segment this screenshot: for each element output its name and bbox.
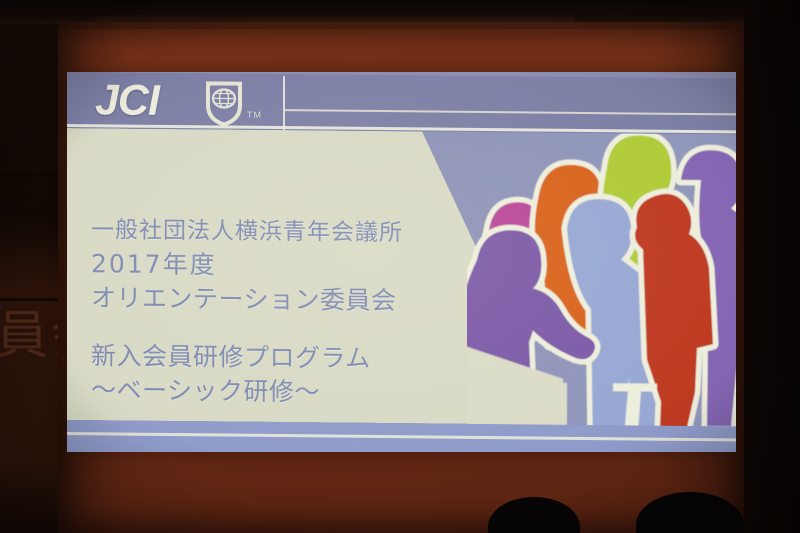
right-wall-panel (744, 0, 800, 533)
slide-subtitle-line-1: 新入会員研修プログラム (91, 336, 371, 375)
slide-title-line-3: オリエンテーション委員会 (91, 278, 397, 317)
wall-kanji-text: 員会 (0, 288, 62, 384)
slide-header-band: JCI TM (67, 72, 736, 134)
slide-title-line-1: 一般社団法人横浜青年会議所 (91, 210, 403, 247)
slide-title-line-2: 2017年度 (91, 244, 217, 281)
jci-shield-icon (206, 81, 242, 125)
left-wall-panel (0, 24, 62, 533)
jci-logo-text: JCI (95, 77, 159, 124)
header-vertical-rule (283, 76, 285, 130)
slide-subtitle-line-2: ～ベーシック研修～ (91, 370, 320, 408)
screen-top-edge (58, 22, 744, 29)
wall-seam-upper (0, 174, 62, 177)
projected-slide: JCI TM 一般社団法人横浜青年会議所 2017年度 オリエンテーション委員会… (67, 72, 736, 452)
trademark-mark: TM (247, 110, 262, 120)
photo-canvas: 員会 (0, 0, 800, 533)
header-rule-upper (285, 109, 736, 115)
group-of-people-silhouettes (467, 132, 736, 452)
